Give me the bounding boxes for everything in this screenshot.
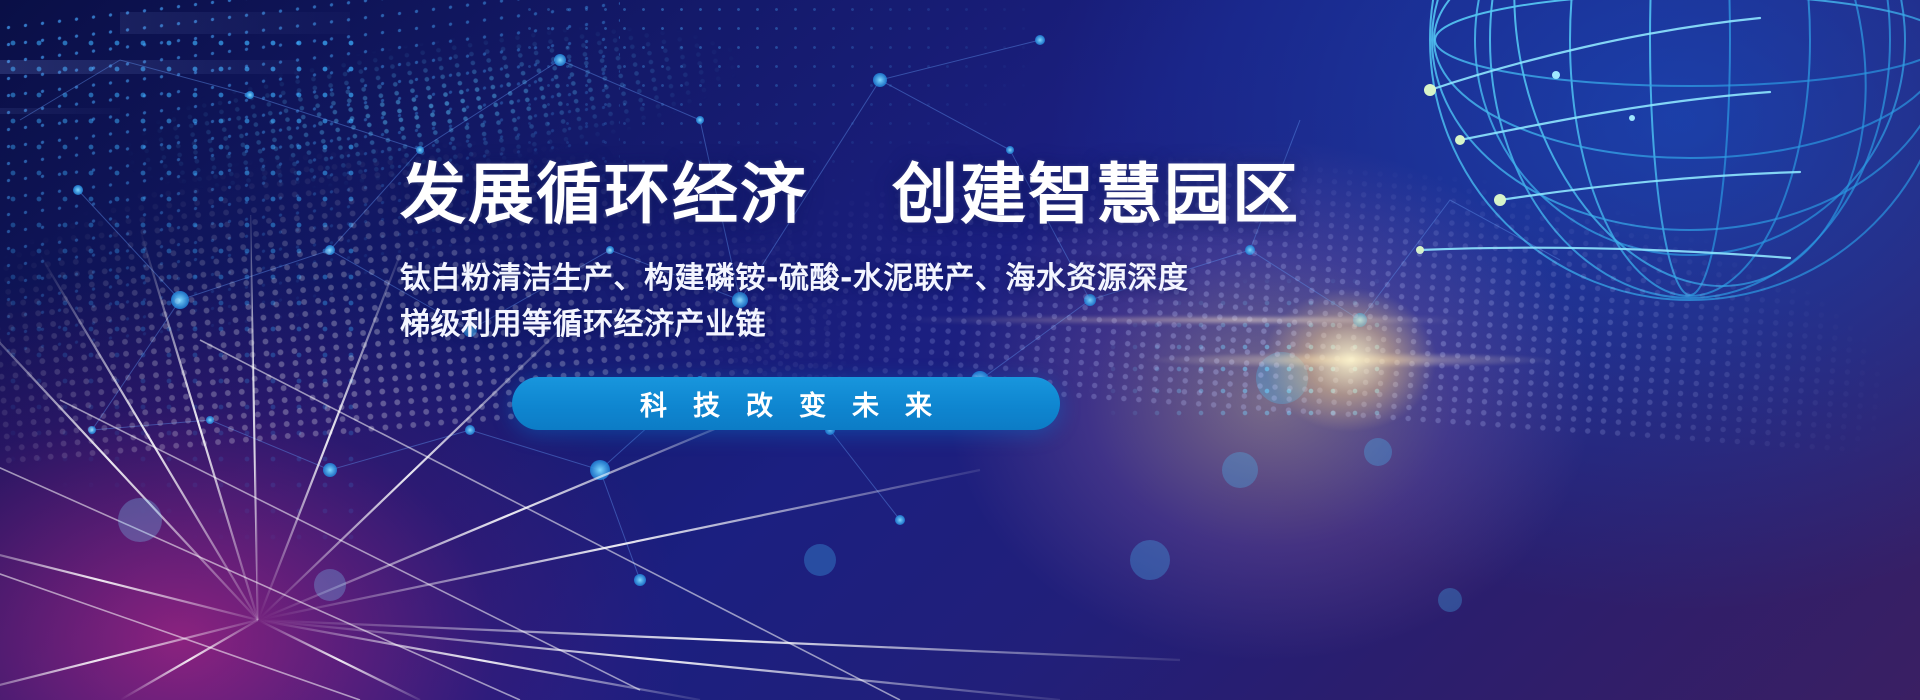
banner-subtitle: 钛白粉清洁生产、构建磷铵-硫酸-水泥联产、海水资源深度 梯级利用等循环经济产业链	[400, 256, 1500, 349]
banner-title-line-2: 创建智慧园区	[892, 156, 1300, 233]
banner-subtitle-line-1: 钛白粉清洁生产、构建磷铵-硫酸-水泥联产、海水资源深度	[400, 256, 1500, 303]
banner-title: 发展循环经济 创建智慧园区	[400, 160, 1500, 230]
banner-title-line-1: 发展循环经济	[400, 156, 808, 233]
hero-banner: 发展循环经济 创建智慧园区 钛白粉清洁生产、构建磷铵-硫酸-水泥联产、海水资源深…	[0, 0, 1920, 700]
banner-content: 发展循环经济 创建智慧园区 钛白粉清洁生产、构建磷铵-硫酸-水泥联产、海水资源深…	[400, 160, 1500, 430]
banner-subtitle-line-2: 梯级利用等循环经济产业链	[400, 302, 1500, 349]
cta-button[interactable]: 科技改变未来	[512, 377, 1060, 430]
